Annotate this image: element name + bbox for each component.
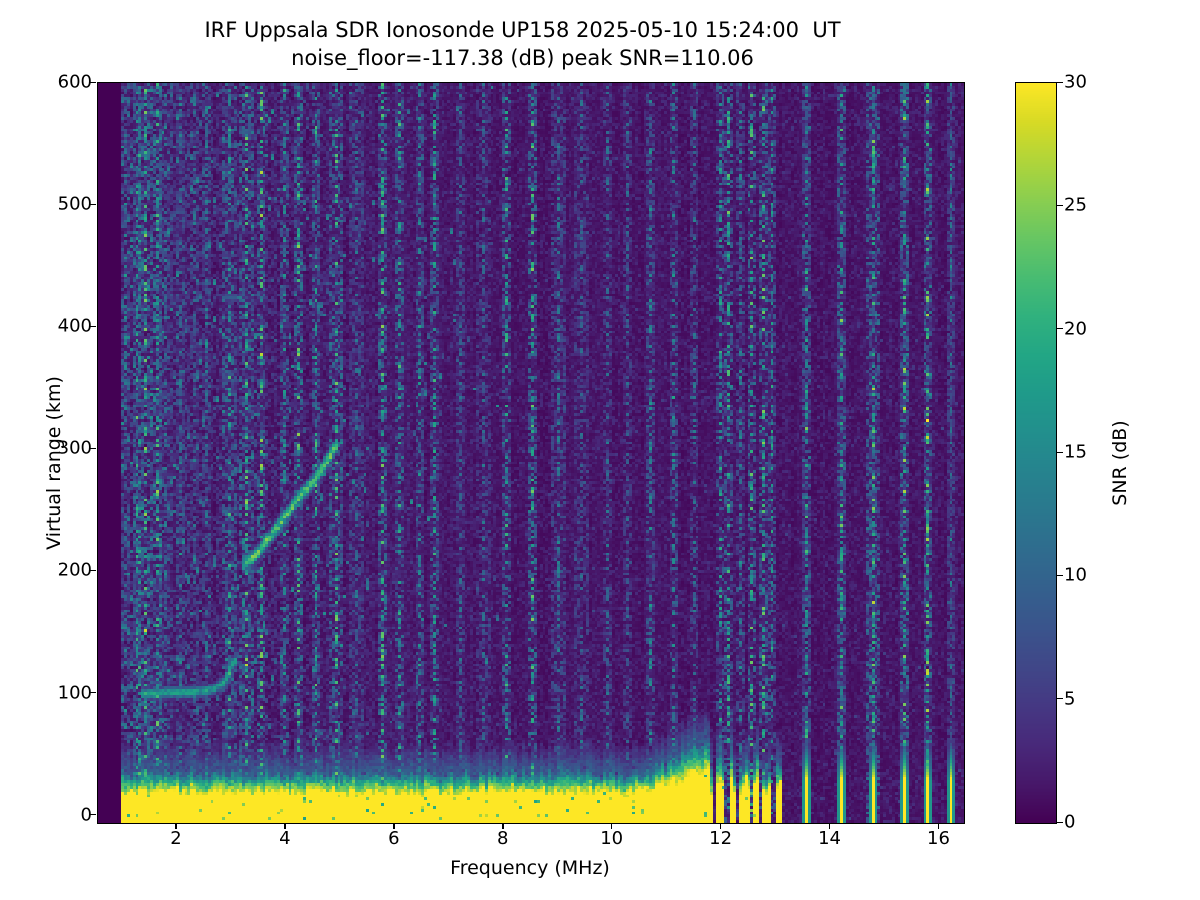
colorbar-tick-mark xyxy=(1057,452,1063,453)
y-tick-mark xyxy=(90,82,96,83)
title-line-1: IRF Uppsala SDR Ionosonde UP158 2025-05-… xyxy=(0,16,1045,44)
colorbar-tick-label: 20 xyxy=(1064,318,1087,339)
y-tick-label: 200 xyxy=(58,560,92,581)
colorbar-label: SNR (dB) xyxy=(1109,363,1131,563)
y-tick-mark xyxy=(90,326,96,327)
ionogram-figure: IRF Uppsala SDR Ionosonde UP158 2025-05-… xyxy=(0,0,1200,900)
x-tick-mark xyxy=(175,823,176,829)
y-tick-label: 500 xyxy=(58,194,92,215)
y-tick-label: 400 xyxy=(58,316,92,337)
colorbar-tick-label: 0 xyxy=(1064,812,1075,833)
title-line-2: noise_floor=-117.38 (dB) peak SNR=110.06 xyxy=(0,44,1045,72)
y-tick-mark xyxy=(90,814,96,815)
colorbar-tick-mark xyxy=(1057,82,1063,83)
colorbar-tick-mark xyxy=(1057,698,1063,699)
x-tick-label: 12 xyxy=(709,828,732,849)
y-tick-label: 100 xyxy=(58,682,92,703)
x-tick-label: 16 xyxy=(927,828,950,849)
x-axis-label: Frequency (MHz) xyxy=(97,857,963,879)
x-tick-mark xyxy=(611,823,612,829)
y-tick-mark xyxy=(90,692,96,693)
y-tick-label: 600 xyxy=(58,72,92,93)
x-tick-mark xyxy=(284,823,285,829)
x-tick-label: 4 xyxy=(279,828,290,849)
colorbar-tick-label: 15 xyxy=(1064,442,1087,463)
ionogram-plot-area[interactable] xyxy=(97,82,965,824)
y-tick-mark xyxy=(90,448,96,449)
x-tick-mark xyxy=(393,823,394,829)
x-tick-mark xyxy=(938,823,939,829)
figure-title: IRF Uppsala SDR Ionosonde UP158 2025-05-… xyxy=(0,16,1045,72)
x-tick-label: 6 xyxy=(388,828,399,849)
x-tick-label: 14 xyxy=(818,828,841,849)
colorbar-gradient xyxy=(1016,83,1056,823)
x-tick-label: 8 xyxy=(497,828,508,849)
colorbar-tick-mark xyxy=(1057,205,1063,206)
colorbar-tick-label: 30 xyxy=(1064,72,1087,93)
colorbar-tick-mark xyxy=(1057,328,1063,329)
y-tick-label: 300 xyxy=(58,438,92,459)
colorbar-tick-label: 10 xyxy=(1064,565,1087,586)
y-tick-mark xyxy=(90,570,96,571)
y-tick-mark xyxy=(90,204,96,205)
x-tick-mark xyxy=(502,823,503,829)
x-tick-mark xyxy=(829,823,830,829)
x-tick-label: 10 xyxy=(600,828,623,849)
x-tick-mark xyxy=(720,823,721,829)
colorbar-tick-mark xyxy=(1057,822,1063,823)
ionogram-heatmap xyxy=(98,83,964,823)
x-tick-label: 2 xyxy=(170,828,181,849)
colorbar-tick-mark xyxy=(1057,575,1063,576)
colorbar[interactable] xyxy=(1015,82,1057,824)
colorbar-tick-label: 25 xyxy=(1064,195,1087,216)
colorbar-tick-label: 5 xyxy=(1064,688,1075,709)
y-axis-label: Virtual range (km) xyxy=(43,363,65,563)
